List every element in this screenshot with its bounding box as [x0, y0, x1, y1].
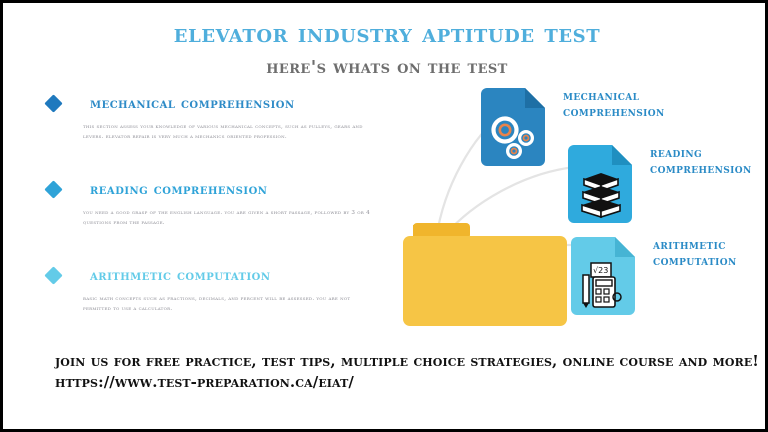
books-document-icon — [568, 143, 634, 223]
section-body: Basic math concepts such as fractions, d… — [83, 294, 375, 315]
footer-url[interactable]: https://www.test-preparation.ca/eiat/ — [55, 372, 755, 393]
folder-icon — [401, 211, 569, 331]
calculator-document-icon: √23 — [571, 235, 637, 315]
page-title: Elevator Industry Aptitude Test — [3, 19, 768, 49]
section-body: This section assess your knowledge of va… — [83, 122, 375, 143]
section-body: You need a good grasp of the English lan… — [83, 208, 375, 229]
diamond-bullet-icon — [44, 180, 62, 198]
section-arithmetic-computation: Arithmetic Computation Basic math concep… — [47, 267, 407, 315]
section-header: Arithmetic Computation — [47, 267, 407, 287]
page-subtitle: Here's Whats on the Test — [3, 57, 768, 78]
card-label: Reading Comprehension — [650, 145, 752, 176]
diamond-bullet-icon — [44, 266, 62, 284]
diamond-bullet-icon — [44, 94, 62, 112]
footer-line-1: Join us for free practice, test tips, mu… — [55, 352, 759, 370]
card-arithmetic-computation[interactable]: √23 Arithmetic Computation — [571, 235, 637, 315]
svg-text:√23: √23 — [593, 266, 608, 275]
section-title: Reading Comprehension — [90, 181, 267, 198]
section-reading-comprehension: Reading Comprehension You need a good gr… — [47, 181, 407, 229]
gears-document-icon — [481, 86, 547, 166]
footer: Join us for free practice, test tips, mu… — [55, 351, 755, 394]
section-mechanical-comprehension: Mechanical Comprehension This section as… — [47, 95, 407, 143]
infographic-canvas: Elevator Industry Aptitude Test Here's W… — [0, 0, 768, 432]
section-title: Arithmetic Computation — [90, 267, 271, 284]
section-title: Mechanical Comprehension — [90, 95, 295, 112]
section-header: Mechanical Comprehension — [47, 95, 407, 115]
card-label: Mechanical Comprehension — [563, 88, 665, 119]
section-header: Reading Comprehension — [47, 181, 407, 201]
card-label: Arithmetic Computation — [653, 237, 737, 268]
card-reading-comprehension[interactable]: Reading Comprehension — [568, 143, 634, 223]
card-mechanical-comprehension[interactable]: Mechanical Comprehension — [481, 86, 547, 166]
